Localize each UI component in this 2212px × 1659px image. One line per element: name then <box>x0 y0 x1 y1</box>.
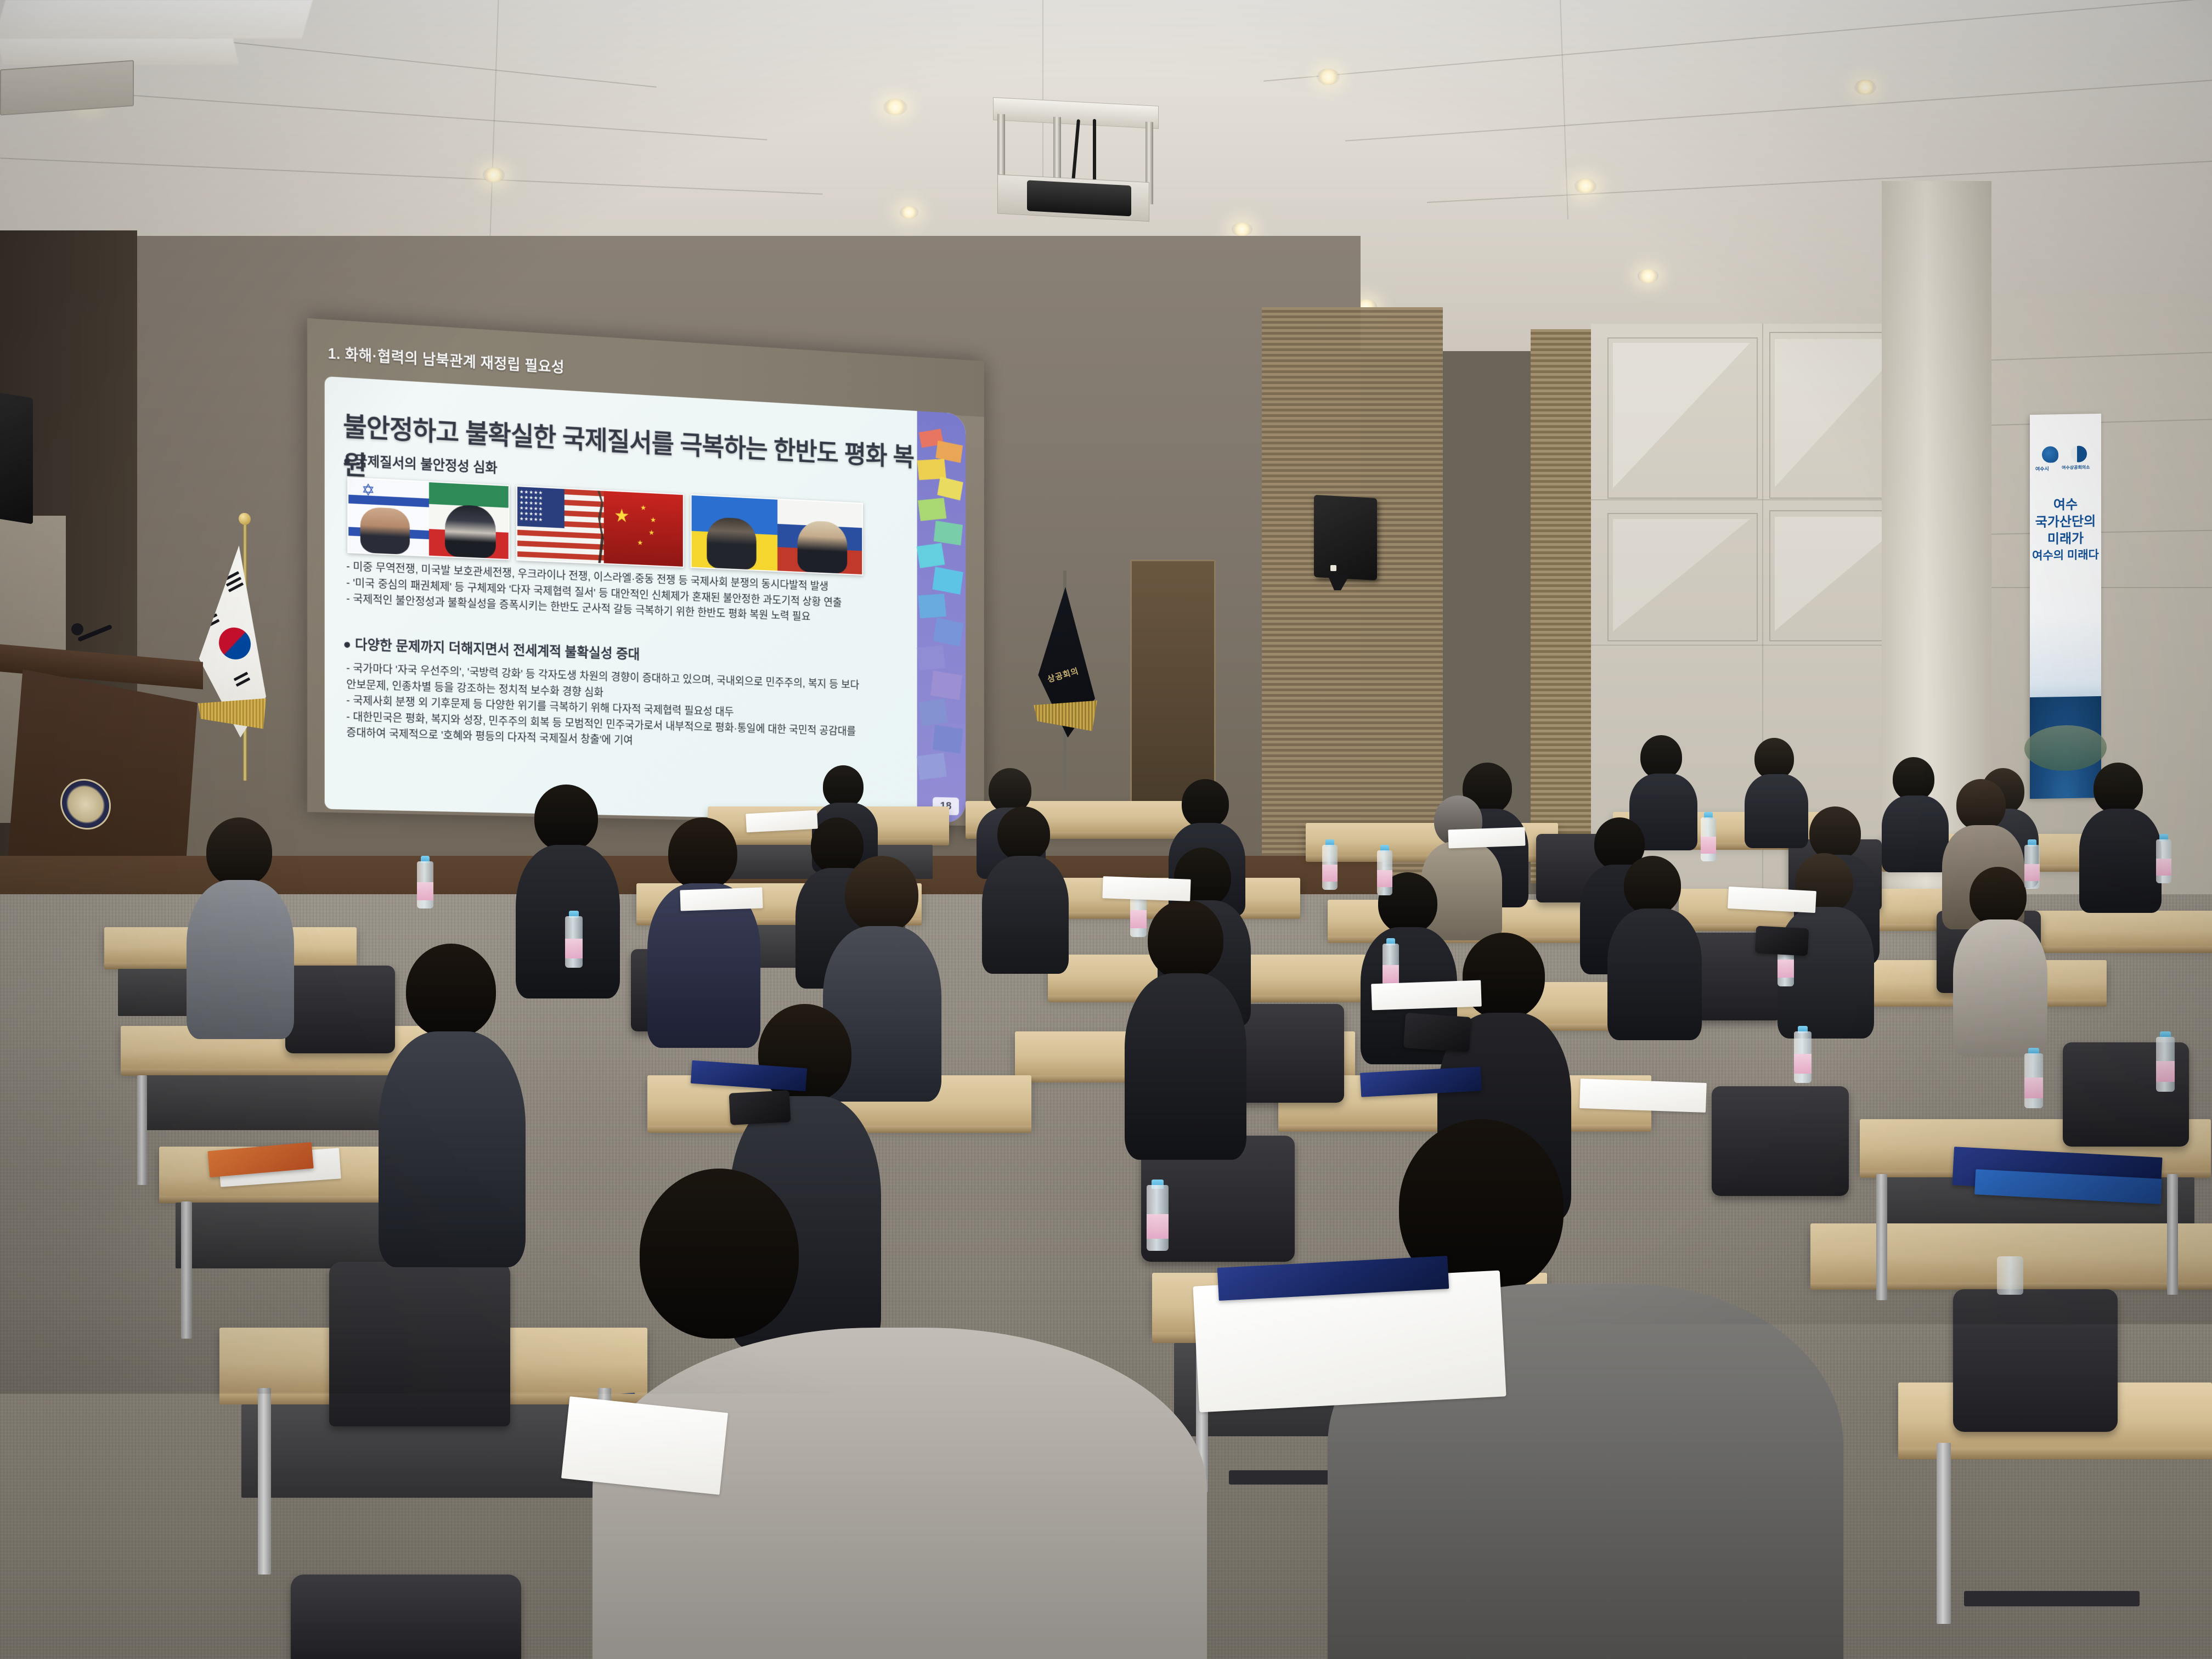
water-bottle[interactable] <box>2024 1048 2043 1108</box>
handout-paper[interactable] <box>1102 876 1190 901</box>
projector-body <box>1027 180 1131 216</box>
handout-paper[interactable] <box>680 887 763 911</box>
chair[interactable] <box>285 966 395 1053</box>
photo-ukraine-russia <box>691 494 863 575</box>
projector-cable <box>1093 119 1096 188</box>
handout-paper[interactable] <box>1728 887 1816 913</box>
slide-eyebrow: 1. 화해·협력의 남북관계 재정립 필요성 <box>328 341 565 377</box>
water-bottle[interactable] <box>1794 1026 1812 1083</box>
smartphone[interactable] <box>1755 926 1809 956</box>
org-label-right: 여수상공회의소 <box>2062 464 2090 471</box>
conference-room-scene: 1. 화해·협력의 남북관계 재정립 필요성 불안정 <box>0 0 2212 1659</box>
photo-israel-iran: ✡ <box>347 477 509 560</box>
chair-base <box>1964 1591 2140 1606</box>
speaker-led <box>1330 565 1336 571</box>
water-bottle[interactable] <box>2156 1031 2175 1092</box>
slide-bullet-2-sublist: - 국가마다 '자국 우선주의', '국방력 강화' 등 각자도생 차원의 경향… <box>346 661 936 758</box>
handout-paper[interactable] <box>1448 827 1525 849</box>
flag-text: 상공회의 <box>1046 665 1080 685</box>
water-bottle[interactable] <box>1322 839 1338 890</box>
banner-title: 여수 국가산단의 미래가 여수의 미래다 <box>2030 496 2101 563</box>
ceiling-light <box>1232 222 1252 236</box>
skylight-panel <box>0 0 313 38</box>
water-bottle[interactable] <box>565 911 583 968</box>
desk-leg <box>258 1388 271 1575</box>
wall-banner: 여수시 여수상공회의소 여수 국가산단의 미래가 여수의 미래다 <box>2030 414 2101 799</box>
water-bottle[interactable] <box>1147 1180 1169 1251</box>
water-bottle[interactable] <box>1701 812 1716 861</box>
water-bottle[interactable] <box>2024 839 2040 889</box>
chair[interactable] <box>1953 1289 2118 1432</box>
taeguk-symbol <box>213 622 256 664</box>
handout-paper[interactable] <box>1371 980 1482 1011</box>
handout-paper[interactable] <box>1579 1079 1707 1113</box>
smartphone[interactable] <box>729 1090 791 1125</box>
org-label-left: 여수시 <box>2035 465 2049 472</box>
flag-finial <box>239 512 251 525</box>
banner-line-2: 국가산단의 <box>2030 513 2101 531</box>
desk-leg <box>2167 1174 2178 1295</box>
chair[interactable] <box>291 1575 521 1659</box>
ceiling-light <box>900 206 918 219</box>
ceiling-air-vent <box>0 60 134 115</box>
water-bottle[interactable] <box>2156 834 2171 883</box>
organization-flag: 상공회의 <box>1031 580 1103 786</box>
slide-body: 불안정하고 불확실한 국제질서를 극복하는 한반도 평화 복원 ● 국제질서의 … <box>325 376 966 823</box>
smartphone[interactable] <box>1403 1013 1471 1052</box>
projector-cable <box>1071 119 1080 182</box>
chair[interactable] <box>329 1262 510 1426</box>
side-door[interactable] <box>1130 560 1216 804</box>
korean-flag <box>195 530 277 770</box>
banner-aerial-photo <box>2030 696 2101 799</box>
smartphone[interactable] <box>468 1474 613 1570</box>
ceiling-light <box>1575 178 1596 194</box>
desk-leg <box>1876 1174 1887 1300</box>
desk-leg <box>137 1075 147 1185</box>
ceiling-light <box>1317 69 1340 85</box>
chair[interactable] <box>1712 1086 1849 1196</box>
water-bottle[interactable] <box>1377 845 1392 895</box>
name-placard-text: 임성완 <box>562 1403 610 1428</box>
desk-leg <box>1937 1443 1951 1624</box>
slide-bullet-2: ● 다양한 문제까지 더해지면서 전세계적 불확실성 증대 <box>343 633 640 663</box>
water-bottle[interactable] <box>417 856 433 909</box>
handout-paper[interactable] <box>746 810 818 833</box>
desk-leg <box>181 1201 192 1339</box>
banner-line-3: 미래가 <box>2030 530 2101 548</box>
banner-line-4: 여수의 미래다 <box>2030 547 2101 563</box>
photo-usa-china: ★★★★★★★★★★★★★★★★★★★★★★★★★★★★★★ ★ ★ ★ ★ ★ <box>516 486 684 568</box>
microphone-head <box>71 623 83 635</box>
wood-slat-panel <box>1531 329 1596 883</box>
ceiling-projector-lift <box>993 97 1158 221</box>
ceiling-light <box>483 167 505 183</box>
banner-line-1: 여수 <box>2030 496 2101 514</box>
projection-screen: 1. 화해·협력의 남북관계 재정립 필요성 불안정 <box>307 318 984 826</box>
ceiling-light <box>1854 80 1876 95</box>
desk-modesty-panel <box>137 1075 411 1130</box>
water-bottle[interactable] <box>1997 1251 2023 1295</box>
ceiling-light <box>1638 269 1658 283</box>
name-placard: 임성완 <box>534 1393 637 1438</box>
wall-speaker <box>1314 495 1377 580</box>
left-wall-speaker <box>0 392 33 524</box>
ceiling-light <box>883 99 907 115</box>
wood-slat-panel <box>1262 307 1443 883</box>
slide-bullet-2-text: 다양한 문제까지 더해지면서 전세계적 불확실성 증대 <box>355 637 640 662</box>
org-logo-right <box>2070 445 2087 462</box>
org-logo-left <box>2042 446 2058 463</box>
